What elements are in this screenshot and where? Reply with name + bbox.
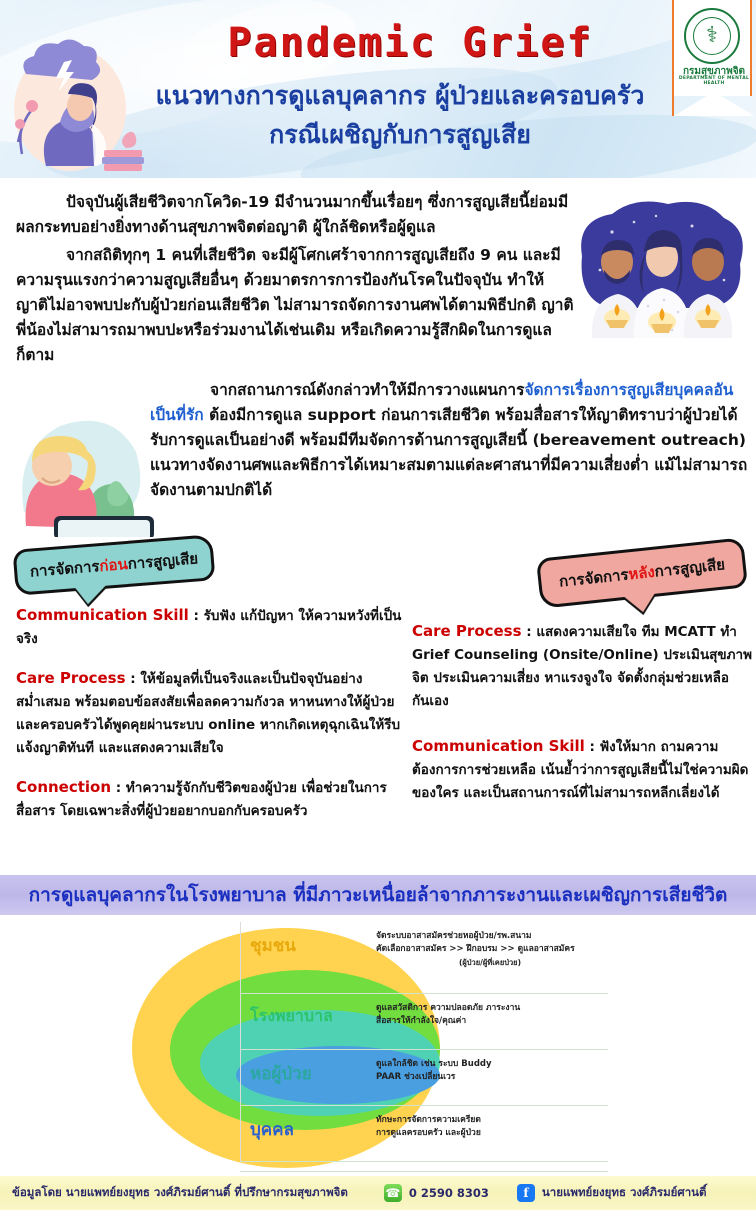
concentric-levels-diagram: ชุมชน จัดระบบอาสาสมัครช่วยหอผู้ป่วย/รพ.ส… — [0, 922, 756, 1174]
footer-credit: ข้อมูลโดย นายแพทย์ยงยุทธ วงศ์ภิรมย์ศานติ… — [12, 1184, 348, 1202]
before-loss-item-2: Connection : ทำความรู้จักกับชีวิตของผู้ป… — [16, 776, 406, 823]
footer-phone-group: ☎ 0 2590 8303 — [384, 1184, 489, 1202]
moph-emblem-icon: ⚕ — [684, 8, 740, 64]
bubble-right-tail — [623, 593, 657, 614]
intro-p3-part2: ต้องมีการดูแล support ก่อนการเสียชีวิต พ… — [150, 406, 747, 499]
bubble-left-tail — [75, 585, 108, 605]
community-desc-line2: คัดเลือกอาสาสมัคร >> ฝึกอบรม >> ดูแลอาสา… — [376, 943, 604, 956]
after-loss-label-0: Care Process — [412, 622, 522, 640]
diagram-spacer-1 — [240, 1162, 608, 1172]
intro-p3-part1: จากสถานการณ์ดังกล่าวทำให้มีการวางแผนการ — [210, 381, 524, 399]
before-loss-label-1: Care Process — [16, 669, 126, 687]
individual-desc-line1: ทักษะการจัดการความเครียด — [376, 1114, 604, 1127]
hospital-desc-line1: ดูแลสวัสดิการ ความปลอดภัย ภาระงาน — [376, 1002, 604, 1015]
diagram-desc-hospital: ดูแลสวัสดิการ ความปลอดภัย ภาระงาน สื่อสา… — [370, 994, 608, 1034]
after-loss-item-1: Communication Skill : ฟังให้มาก ถามความต… — [412, 735, 756, 805]
department-logo-ribbon: ⚕ กรมสุขภาพจิต DEPARTMENT OF MENTAL HEAL… — [672, 0, 752, 96]
after-loss-label-1: Communication Skill — [412, 737, 585, 755]
diagram-row-ward: หอผู้ป่วย ดูแลใกล้ชิด เช่น ระบบ Buddy PA… — [240, 1050, 608, 1106]
before-loss-item-0: Communication Skill : รับฟัง แก้ปัญหา ให… — [16, 604, 406, 651]
after-loss-column: Care Process : แสดงความเสียใจ ทีม MCATT … — [412, 620, 756, 821]
diagram-desc-ward: ดูแลใกล้ชิด เช่น ระบบ Buddy PAAR ช่วงเปล… — [370, 1050, 608, 1090]
diagram-row-individual: บุคคล ทักษะการจัดการความเครียด การดูแลคร… — [240, 1106, 608, 1162]
before-loss-column: Communication Skill : รับฟัง แก้ปัญหา ให… — [16, 604, 406, 839]
diagram-label-ward: หอผู้ป่วย — [240, 1050, 370, 1093]
page-title-english: Pandemic Grief — [150, 20, 670, 66]
footer-facebook-group[interactable]: f นายแพทย์ยงยุทธ วงศ์ภิรมย์ศานติ์ — [517, 1184, 707, 1202]
individual-desc-line2: การดูแลครอบครัว และผู้ป่วย — [376, 1127, 604, 1140]
diagram-desc-individual: ทักษะการจัดการความเครียด การดูแลครอบครัว… — [370, 1106, 608, 1146]
before-loss-item-1: Care Process : ให้ข้อมูลที่เป็นจริงและเป… — [16, 667, 406, 760]
footer-facebook: นายแพทย์ยงยุทธ วงศ์ภิรมย์ศานติ์ — [542, 1184, 707, 1202]
diagram-rows: ชุมชน จัดระบบอาสาสมัครช่วยหอผู้ป่วย/รพ.ส… — [240, 922, 608, 1182]
mourners-with-candles-illustration — [572, 196, 752, 341]
bubble-left-pre: การจัดการ — [29, 554, 100, 583]
diagram-label-hospital: โรงพยาบาล — [240, 994, 370, 1035]
before-loss-label-2: Connection — [16, 778, 111, 796]
diagram-label-community: ชุมชน — [240, 922, 370, 965]
bubble-before-loss: การจัดการก่อนการสูญเสีย — [13, 534, 216, 596]
comforting-embrace-illustration — [8, 392, 158, 537]
intro-paragraph-1: ปัจจุบันผู้เสียชีวิตจากโควิด-19 มีจำนวนม… — [16, 190, 576, 240]
diagram-label-individual: บุคคล — [240, 1106, 370, 1149]
hospital-desc-line2: สื่อสารให้กำลังใจ/คุณค่า — [376, 1015, 604, 1028]
community-desc-line1: จัดระบบอาสาสมัครช่วยหอผู้ป่วย/รพ.สนาม — [376, 930, 604, 943]
header-banner: Pandemic Grief แนวทางการดูแลบุคลากร ผู้ป… — [0, 0, 756, 178]
ward-desc-line2: PAAR ช่วงเปลี่ยนเวร — [376, 1071, 604, 1084]
intro-paragraph-2: จากสถิติทุกๆ 1 คนที่เสียชีวิต จะมีผู้โศก… — [16, 243, 576, 368]
caduceus-icon: ⚕ — [693, 17, 731, 55]
diagram-desc-community: จัดระบบอาสาสมัครช่วยหอผู้ป่วย/รพ.สนาม คั… — [370, 922, 608, 975]
footer-phone: 0 2590 8303 — [409, 1186, 489, 1200]
bubble-left-emphasis: ก่อน — [98, 552, 128, 578]
phone-icon: ☎ — [384, 1184, 402, 1202]
footer-bar: ข้อมูลโดย นายแพทย์ยงยุทธ วงศ์ภิรมย์ศานติ… — [0, 1176, 756, 1210]
bubble-right-emphasis: หลัง — [627, 560, 656, 587]
bubble-after-loss: การจัดการหลังการสูญเสีย — [536, 537, 748, 608]
bubble-left-post: การสูญเสีย — [127, 546, 199, 575]
bubble-right-pre: การจัดการ — [558, 562, 630, 593]
logo-label-english: DEPARTMENT OF MENTAL HEALTH — [674, 76, 754, 86]
diagram-row-community: ชุมชน จัดระบบอาสาสมัครช่วยหอผู้ป่วย/รพ.ส… — [240, 922, 608, 994]
page-subtitle-line1: แนวทางการดูแลบุคลากร ผู้ป่วยและครอบครัว — [120, 76, 680, 116]
banner-title: การดูแลบุคลากรในโรงพยาบาล ที่มีภาวะเหนื่… — [29, 880, 728, 910]
before-loss-label-0: Communication Skill — [16, 606, 189, 624]
intro-paragraph-3: จากสถานการณ์ดังกล่าวทำให้มีการวางแผนการจ… — [150, 378, 750, 503]
bubble-right-post: การสูญเสีย — [653, 552, 726, 583]
section-banner-staff-care: การดูแลบุคลากรในโรงพยาบาล ที่มีภาวะเหนื่… — [0, 875, 756, 915]
facebook-icon[interactable]: f — [517, 1184, 535, 1202]
after-loss-item-0: Care Process : แสดงความเสียใจ ทีม MCATT … — [412, 620, 756, 713]
page-subtitle-line2: กรณีเผชิญกับการสูญเสีย — [120, 115, 680, 155]
ward-desc-line1: ดูแลใกล้ชิด เช่น ระบบ Buddy — [376, 1058, 604, 1071]
community-desc-line3: (ผู้ป่วย/ผู้ที่เคยป่วย) — [376, 956, 604, 969]
diagram-row-hospital: โรงพยาบาล ดูแลสวัสดิการ ความปลอดภัย ภาระ… — [240, 994, 608, 1050]
